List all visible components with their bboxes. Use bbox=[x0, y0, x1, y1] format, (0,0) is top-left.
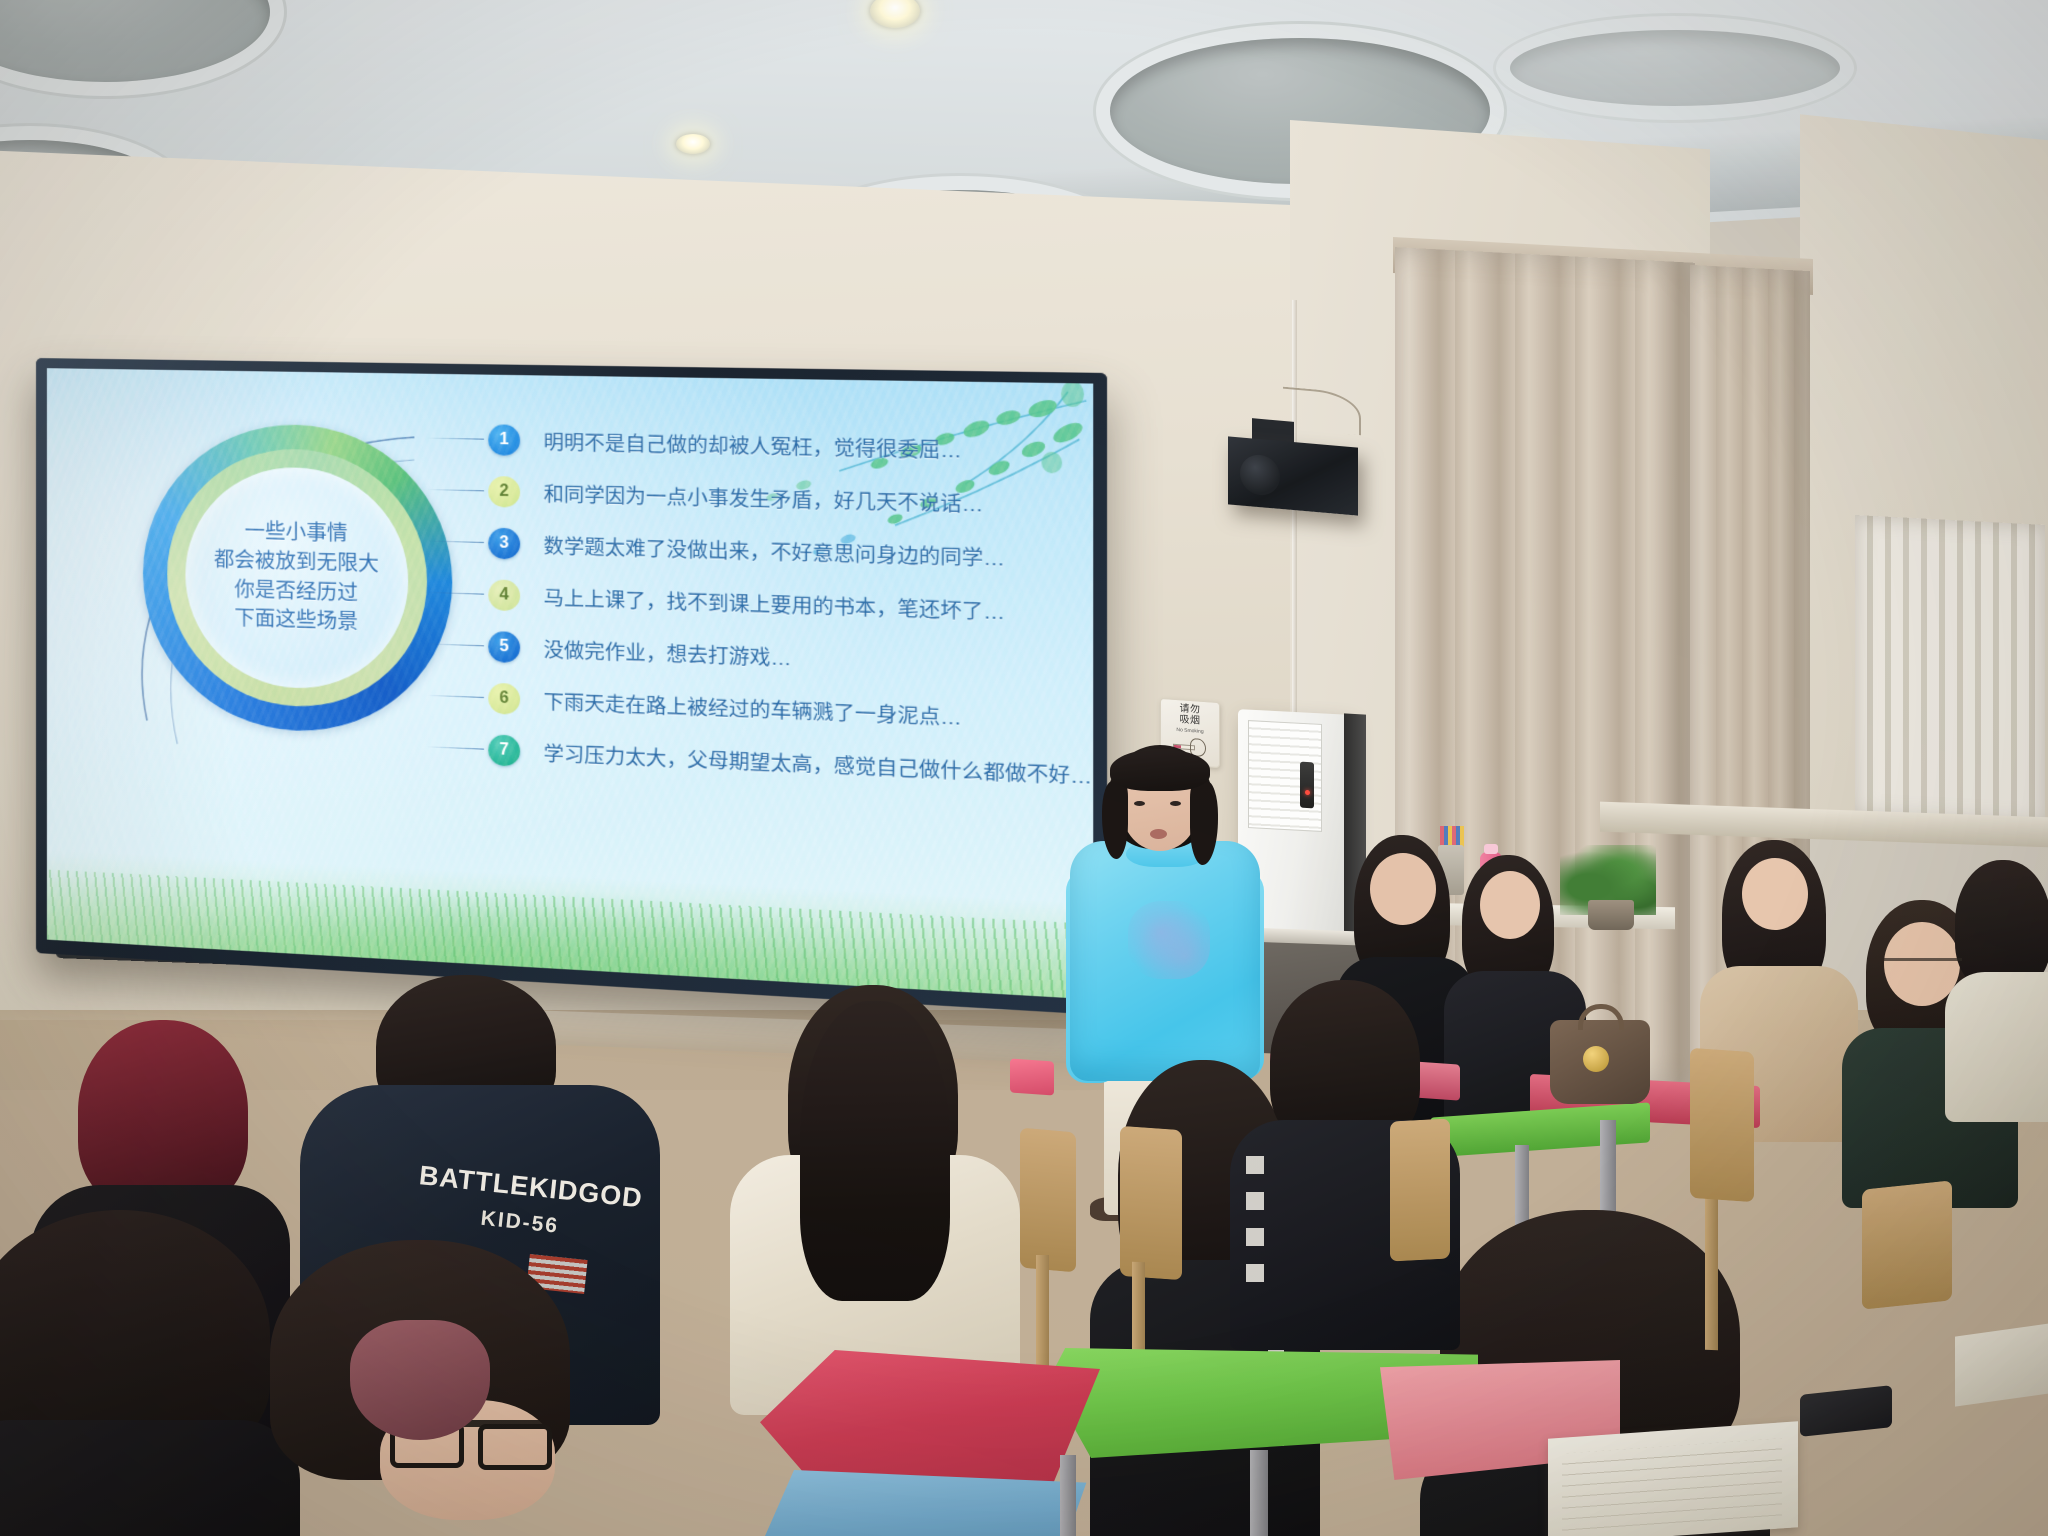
eyeglass-lens-right bbox=[478, 1424, 552, 1470]
chair-backrest[interactable] bbox=[1390, 1118, 1450, 1261]
eye-right bbox=[1170, 801, 1181, 806]
hair bbox=[1955, 860, 2048, 990]
pink-object bbox=[1010, 1058, 1054, 1095]
table-leg bbox=[1250, 1450, 1268, 1536]
table-leg bbox=[1060, 1455, 1076, 1536]
student bbox=[1945, 860, 2048, 1110]
mouth bbox=[1150, 829, 1167, 839]
hair-front bbox=[800, 1001, 950, 1301]
presentation-slide: 一些小事情 都会被放到无限大 你是否经历过 下面这些场景 1 明明不是自己做的却… bbox=[47, 368, 1093, 999]
ceiling-well bbox=[1510, 30, 1840, 106]
radiator bbox=[1855, 515, 2045, 825]
student bbox=[730, 985, 1020, 1405]
chair-backrest[interactable] bbox=[1862, 1180, 1952, 1309]
chair-backrest[interactable] bbox=[1020, 1128, 1076, 1273]
eye-left bbox=[1134, 801, 1145, 806]
hood bbox=[350, 1320, 490, 1440]
photo-scene: 请勿 吸烟 No Smoking bbox=[0, 0, 2048, 1536]
ac-power-led-icon bbox=[1305, 790, 1310, 795]
wall-display[interactable]: 一些小事情 都会被放到无限大 你是否经历过 下面这些场景 1 明明不是自己做的却… bbox=[36, 358, 1107, 1015]
hair-bangs bbox=[1110, 749, 1210, 791]
no-smoking-en: No Smoking bbox=[1176, 727, 1203, 735]
no-smoking-cn-line2: 吸烟 bbox=[1180, 715, 1201, 727]
bottle-cap bbox=[1484, 844, 1498, 854]
red-hair bbox=[78, 1020, 248, 1210]
chair-backrest[interactable] bbox=[1120, 1126, 1182, 1280]
chair-backrest[interactable] bbox=[1690, 1048, 1754, 1202]
handbag-clasp-icon bbox=[1583, 1046, 1609, 1072]
plant-pot bbox=[1588, 900, 1634, 930]
head bbox=[1370, 853, 1436, 925]
eyeglasses-icon bbox=[1884, 958, 1962, 972]
hair-side-left bbox=[1102, 781, 1128, 859]
sweater-motif bbox=[1128, 901, 1210, 979]
ac-control-panel[interactable] bbox=[1300, 762, 1314, 809]
ceiling-spotlight bbox=[676, 134, 710, 154]
sleeve-stripes bbox=[1246, 1156, 1264, 1296]
head bbox=[1742, 858, 1808, 930]
student bbox=[230, 1240, 650, 1536]
paper-sheet bbox=[1955, 1323, 2048, 1406]
notebook-lines bbox=[1562, 1438, 1782, 1533]
screen-glare bbox=[47, 368, 717, 999]
head bbox=[1480, 871, 1540, 939]
jacket bbox=[1945, 972, 2048, 1122]
chair-leg bbox=[1705, 1180, 1718, 1350]
